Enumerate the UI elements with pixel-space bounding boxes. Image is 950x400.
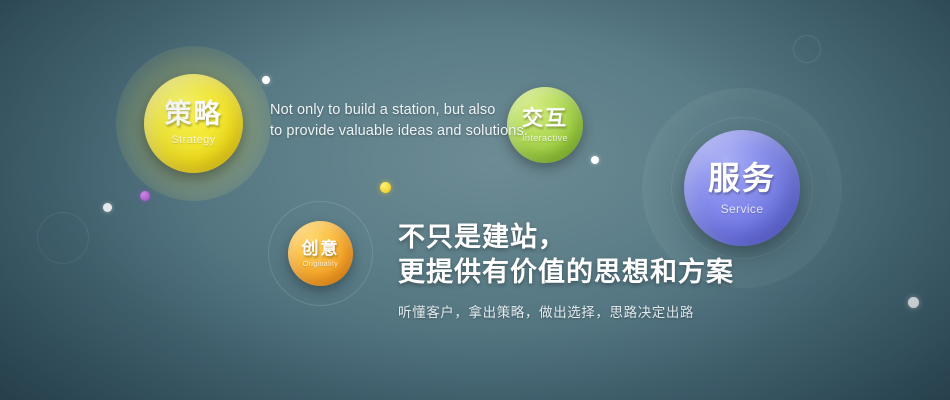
sphere-service-cn-label: 服务	[708, 162, 776, 194]
sphere-originality-cn-label: 创意	[302, 240, 340, 257]
english-tagline: Not only to build a station, but also to…	[270, 100, 528, 142]
dot-purple	[140, 191, 150, 201]
headline-subtitle: 听懂客户，拿出策略，做出选择，思路决定出路	[398, 301, 818, 321]
headline-line-1: 不只是建站，	[398, 220, 818, 255]
sphere-service-en-label: Service	[721, 203, 764, 215]
sphere-strategy-en-label: Strategy	[171, 135, 215, 146]
vignette-overlay	[0, 0, 950, 400]
sphere-strategy-cn-label: 策略	[165, 101, 223, 128]
sphere-interactive-cn-label: 交互	[522, 108, 568, 129]
sphere-originality[interactable]: 创意 Originality	[288, 221, 353, 286]
decorative-ring-bottomleft	[37, 212, 89, 264]
decorative-ring-small-topright	[793, 35, 821, 63]
sphere-interactive-en-label: Interactive	[522, 134, 568, 143]
dot-white-right	[908, 297, 919, 308]
hero-banner: 策略 Strategy 交互 Interactive 创意 Originalit…	[0, 0, 950, 400]
dot-white-upper	[262, 76, 270, 84]
dot-white-left	[103, 203, 112, 212]
headline-line-2: 更提供有价值的思想和方案	[398, 255, 818, 290]
sphere-strategy[interactable]: 策略 Strategy	[144, 74, 243, 173]
dot-yellow	[380, 182, 391, 193]
sphere-originality-en-label: Originality	[303, 261, 339, 268]
headline-block: 不只是建站， 更提供有价值的思想和方案 听懂客户，拿出策略，做出选择，思路决定出…	[398, 220, 818, 321]
dot-white-mid	[591, 156, 599, 164]
